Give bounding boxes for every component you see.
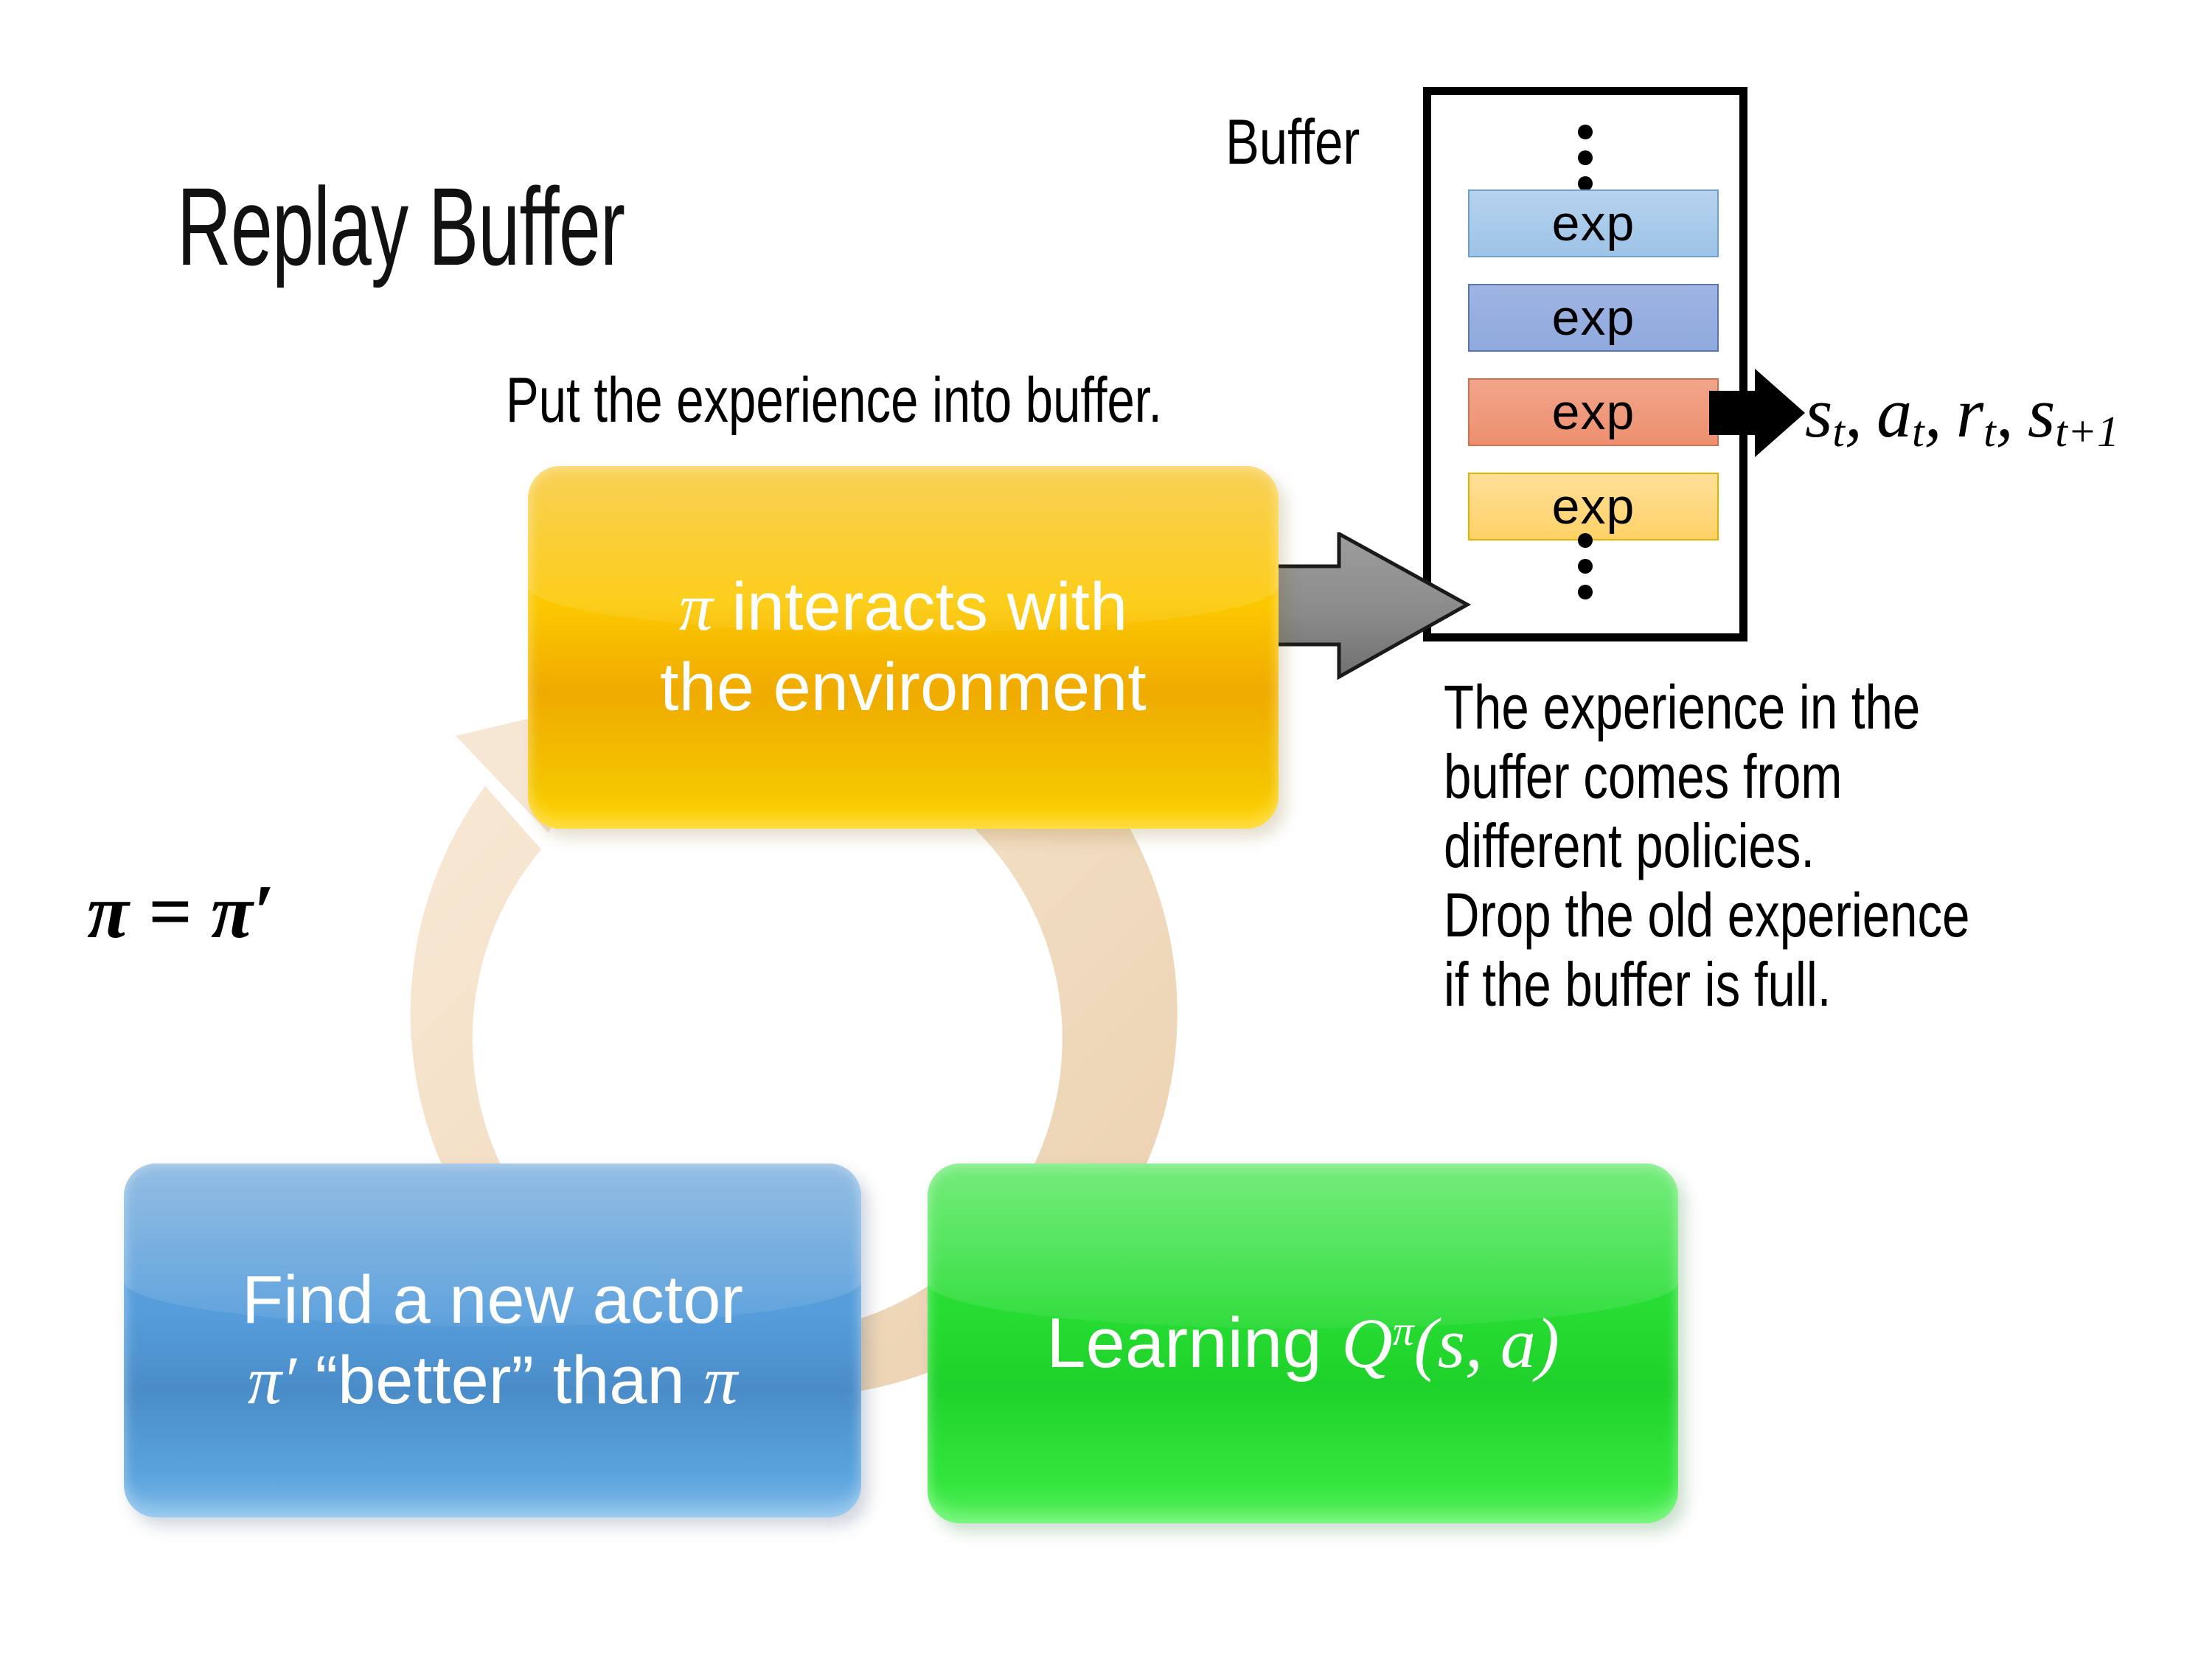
action-subscript: t — [1912, 407, 1924, 456]
process-box-interact[interactable]: π interacts with the environment — [528, 466, 1279, 829]
interact-line1: interacts with — [713, 569, 1127, 644]
state-symbol: s — [1805, 373, 1832, 452]
buffer-entry-0[interactable]: exp — [1468, 189, 1719, 257]
process-box-interact-label: π interacts with the environment — [641, 567, 1166, 727]
next-state-symbol: s — [2028, 373, 2055, 452]
pi-equals-pi-prime-formula: π = π′ — [87, 874, 274, 950]
buffer-entry-2[interactable]: exp — [1468, 378, 1719, 446]
state-subscript: t — [1832, 407, 1845, 456]
pi-symbol: π — [703, 1343, 737, 1418]
comma: , — [1845, 373, 1877, 452]
comma: , — [1996, 373, 2028, 452]
process-box-find-actor[interactable]: Find a new actor π′ “better” than π — [124, 1164, 861, 1517]
process-box-find-actor-label: Find a new actor π′ “better” than π — [223, 1260, 762, 1420]
find-line2-mid: “better” than — [296, 1343, 703, 1418]
dot — [1578, 559, 1593, 574]
buffer-label: Buffer — [1225, 111, 1360, 174]
process-box-learn-q[interactable]: Learning Qπ(s, a) — [928, 1164, 1678, 1523]
slide-canvas: Replay Buffer Put the experience into bu… — [0, 0, 2212, 1659]
q-symbol: Q — [1341, 1304, 1392, 1382]
note-line-3: Drop the old experience — [1444, 880, 2212, 950]
note-line-4: if the buffer is full. — [1444, 950, 2212, 1019]
transition-tuple-formula: st, at, rt, st+1 — [1805, 378, 2119, 454]
put-experience-caption: Put the experience into buffer. — [506, 369, 1162, 432]
learn-prefix: Learning — [1046, 1304, 1341, 1382]
dot — [1578, 585, 1593, 599]
dot — [1578, 533, 1593, 548]
interact-line2: the environment — [660, 650, 1147, 725]
reward-subscript: t — [1983, 407, 1996, 456]
pi-symbol: π — [679, 569, 713, 644]
action-symbol: a — [1877, 373, 1912, 452]
note-line-2: different policies. — [1444, 811, 2212, 880]
ellipsis-top-icon — [1578, 125, 1593, 191]
buffer-entry-3[interactable]: exp — [1468, 473, 1719, 540]
buffer-notes: The experience in the buffer comes from … — [1444, 672, 2212, 1019]
dot — [1578, 150, 1593, 165]
next-state-subscript: t+1 — [2055, 407, 2118, 456]
dot — [1578, 176, 1593, 191]
sample-out-arrow-icon — [1709, 369, 1805, 457]
comma: , — [1924, 373, 1956, 452]
q-arguments: (s, a) — [1414, 1304, 1559, 1382]
process-box-learn-q-label: Learning Qπ(s, a) — [1027, 1301, 1579, 1385]
note-line-0: The experience in the — [1444, 672, 2212, 742]
pi-superscript: π — [1393, 1308, 1414, 1354]
page-title: Replay Buffer — [177, 171, 625, 282]
dot — [1578, 125, 1593, 139]
find-line1: Find a new actor — [242, 1262, 743, 1338]
ellipsis-bottom-icon — [1578, 533, 1593, 599]
buffer-entry-1[interactable]: exp — [1468, 284, 1719, 352]
note-line-1: buffer comes from — [1444, 742, 2212, 811]
reward-symbol: r — [1956, 373, 1983, 452]
pi-prime-symbol: π′ — [248, 1343, 296, 1418]
